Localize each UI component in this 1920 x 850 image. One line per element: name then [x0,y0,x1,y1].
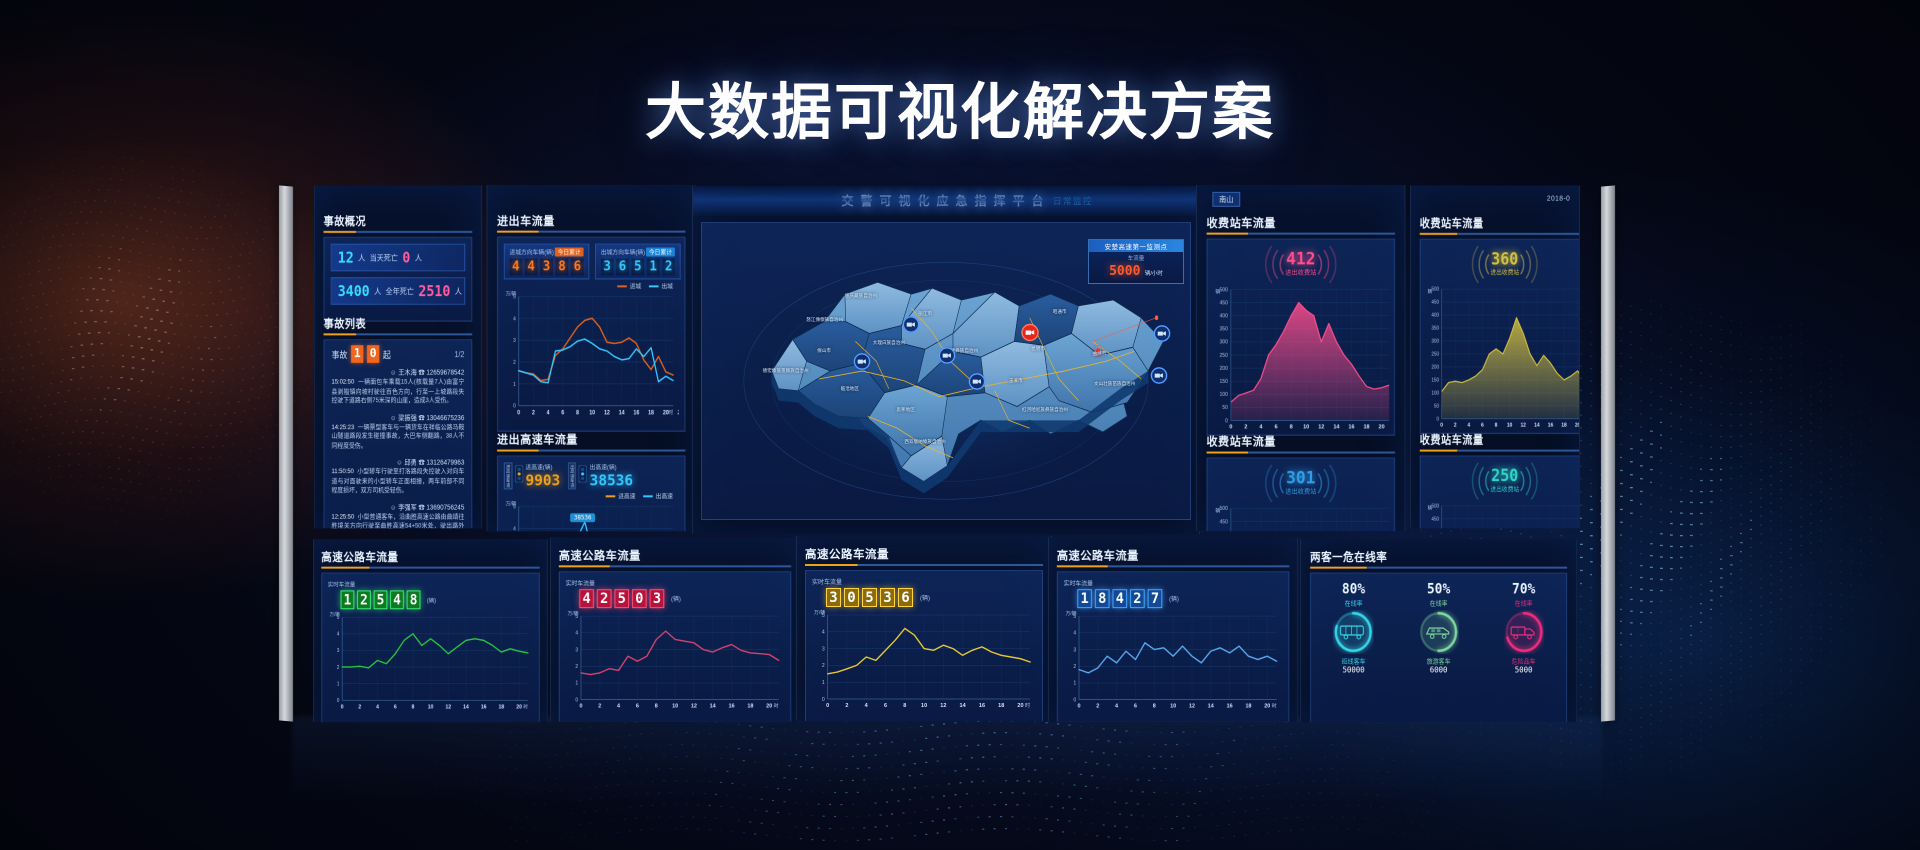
digit-cell: 3 [650,589,665,608]
panel-highway-2: 高速公路车流量实时车流量30536(辆)01234502468101214161… [805,546,1043,721]
realtime-flow-unit: (辆) [1169,594,1179,603]
online-rate-gauge [1418,610,1458,654]
accident-time: 11:50:50 [331,469,353,476]
panel-in-out-flow: 进出车流量 进城方向车辆(辆) 今日累计 44386 出城方向车辆( [497,213,685,432]
realtime-flow-digits: 18427(辆) [1077,589,1282,608]
accident-time: 14:25:23 [331,424,354,431]
table-row: 12 人 当天死亡 0 人 [331,244,466,272]
camera-marker[interactable] [1150,367,1167,389]
digit-cell: 6 [571,259,583,276]
year-death-value: 2510 [418,282,450,300]
toll-heading: 收费站车流量 [1420,432,1580,452]
phone-icon: ☎ [418,370,424,377]
accident-time: 12:25:50 [331,514,354,521]
accident-text: 12:25:50 小型普通客车，沿曲胜高速公路由曲靖往胜境关方向行驶至曲胜高速5… [331,513,464,529]
highway-panel-heading: 高速公路车流量 [321,549,539,569]
map-tooltip-unit: 辆/小时 [1145,271,1163,277]
online-rate-percent: 80% [1311,581,1395,597]
screen-highway-0: 高速公路车流量实时车流量12548(辆)01234502468101214161… [313,539,548,722]
digit-cell: 3 [601,259,613,276]
phone-icon: ☎ [418,460,424,467]
page-title: 大数据可视化解决方案 [0,82,1920,143]
online-rate-item-1[interactable]: 50%在线率旅游客车6000 [1396,581,1480,674]
panel-toll-2: 收费站车流量 301进出收费站 050100150200250300350400… [1207,434,1395,532]
digit-cell: 6 [898,588,913,607]
dashboard-date: 2018-0 [1547,193,1570,202]
list-item[interactable]: ☺ 王木海 ☎ 1265967854215:02:50 一辆面包车乘载15人(核… [324,365,471,410]
toll-heading: 收费站车流量 [1207,215,1395,235]
highway-panel-heading: 高速公路车流量 [1057,547,1289,567]
realtime-flow-digits: 30536(辆) [826,588,1036,607]
accident-text: 15:02:50 一辆面包车乘载15人(核载量7人)由富宁县剥隘镇向坡村驶往百色… [331,378,464,406]
accident-text: 14:25:23 一辆票型客车与一辆货车在祥临公路马鞍山隧道路段发生碰撞事故，大… [331,423,464,451]
camera-marker[interactable] [939,347,956,369]
online-rate-gauge [1333,610,1373,654]
in-highway-value: 9903 [525,471,560,489]
panel-toll-1: 收费站车流量 360进出收费站 050100150200250300350400… [1420,215,1580,434]
panel-highway-in-out-flow: 进出高速车流量 进高速车道 进高速(辆) 9903 [497,432,685,532]
realtime-flow-label: 实时车流量 [812,577,1036,586]
online-rate-percent: 50% [1396,581,1480,597]
accident-count-unit: 起 [383,348,391,361]
video-wall: 事故概况 12 人 当天死亡 0 人 3400 人 全年死亡 2510 人 [292,186,1602,721]
dashboard-header [693,186,1199,216]
map-tooltip-title: 安楚高速第一监测点 [1089,240,1183,252]
highway-panel-heading: 高速公路车流量 [559,547,791,567]
wall-reflection [292,716,1602,806]
legend-item: 进高速 [606,491,636,500]
screen-highway-3: 高速公路车流量实时车流量18427(辆)01234502468101214161… [1048,537,1298,721]
screen-highway-2: 高速公路车流量实时车流量30536(辆)01234502468101214161… [796,536,1052,721]
map-tooltip-label: 车流量 [1089,254,1183,262]
toll-ring-0: 412进出收费站 [1208,246,1394,284]
highway-flow-heading: 进出高速车流量 [497,432,685,452]
realtime-flow-label: 实时车流量 [328,580,534,589]
highway-panel-chart: 0123450246810121416182022时万/辆 [812,609,1036,713]
person-icon: ☺ [390,505,396,512]
camera-marker[interactable] [1154,325,1171,347]
out-city-badge: 今日累计 [646,248,675,257]
accident-meta: ☺ 邱勇 ☎ 13126479963 [331,458,464,468]
out-city-flow-box: 出城方向车辆(辆) 今日累计 36512 [595,244,681,280]
panel-toll-0: 收费站车流量 412进出收费站 050100150200250300350400… [1207,215,1395,436]
alert-marker[interactable] [1021,323,1039,346]
panel-highway-3: 高速公路车流量实时车流量18427(辆)01234502468101214161… [1057,547,1289,721]
screen-toll-right: 2018-0 收费站车流量 360进出收费站 05010015020025030… [1410,186,1580,529]
accident-list-heading: 事故列表 [324,316,473,336]
toll-chart-0: 0501001502002503003504004505000246810121… [1208,283,1394,434]
digit-cell: 1 [647,259,659,276]
realtime-flow-unit: (辆) [920,593,930,602]
screen-highway-1: 高速公路车流量实时车流量42503(辆)01234502468101214161… [550,537,800,721]
camera-marker[interactable] [969,373,986,395]
camera-marker[interactable] [854,353,871,375]
realtime-flow-unit: (辆) [427,595,436,604]
list-item[interactable]: ☺ 邱勇 ☎ 1312647996311:50:50 小型轿车行驶至打洛路段失控… [324,455,471,500]
phone-icon: ☎ [418,415,424,422]
toll-chart-2: 0501001502002503003504004505000246810121… [1208,502,1394,531]
online-rate-heading: 两客一危在线率 [1310,549,1567,569]
legend-item: 出城 [649,281,673,290]
screen-flow-charts: 进出车流量 进城方向车辆(辆) 今日累计 44386 出城方向车辆( [486,185,696,531]
in-highway-unit: (辆) [543,465,553,471]
accident-list-pager[interactable]: 1/2 [454,350,464,359]
highway-panel-heading: 高速公路车流量 [805,546,1043,566]
panel-highway-1: 高速公路车流量实时车流量42503(辆)01234502468101214161… [559,547,791,721]
camera-icon [1154,325,1171,342]
realtime-flow-label: 实时车流量 [1064,578,1283,587]
unit: 人 [415,252,422,263]
alert-camera-icon [1021,323,1039,341]
panel-online-rate: 两客一危在线率80%在线率班线客车5000050%在线率旅游客车600070%在… [1310,549,1567,722]
list-item[interactable]: ☺ 李强军 ☎ 1369075624512:25:50 小型普通客车，沿曲胜高速… [324,500,471,529]
accident-time: 15:02:50 [331,379,354,386]
highway-panel-chart: 0123450246810121416182022时万/辆 [566,610,785,713]
digit-cell: 0 [844,588,859,607]
in-out-flow-heading: 进出车流量 [497,213,685,233]
legend-label: 进高速 [618,491,635,500]
online-rate-name: 班线客车 [1311,656,1395,666]
accident-meta: ☺ 李强军 ☎ 13690756245 [331,503,464,513]
accident-count: 事故 1 0 起 1/2 [324,340,471,365]
map-tooltip-value: 5000 [1109,264,1140,279]
toll-chart-3: 0501001502002503003504004505000246810121… [1421,500,1580,529]
panel-accident-list: 事故列表 事故 1 0 起 1/2 ☺ 王木海 ☎ 1265967854215:… [324,316,473,529]
map-container[interactable]: 迪庆藏族自治州怒江傈僚族自治州丽江市昭通市大理白族自治州楚雄彝族自治州曲靖市昆明… [701,222,1191,520]
yunnan-map[interactable]: 迪庆藏族自治州怒江傈僚族自治州丽江市昭通市大理白族自治州楚雄彝族自治州曲靖市昆明… [702,223,1190,519]
unit: 人 [455,286,462,297]
highway-panel-chart: 0123450246810121416182022时万/辆 [328,611,534,714]
digit-cell: 2 [662,259,674,276]
digit-cell: 6 [616,259,628,276]
digit-cell: 7 [1148,589,1163,608]
wall-frame-right [1601,185,1615,721]
toll-heading: 收费站车流量 [1207,434,1395,454]
toll-ring-2: 301进出收费站 [1208,464,1394,502]
screen-left: 事故概况 12 人 当天死亡 0 人 3400 人 全年死亡 2510 人 [314,186,482,529]
camera-icon [854,353,871,370]
camera-marker[interactable] [903,316,920,338]
panel-highway-0: 高速公路车流量实时车流量12548(辆)01234502468101214161… [321,549,539,722]
table-row: 3400 人 全年死亡 2510 人 [331,277,466,305]
list-item[interactable]: ☺ 梁振强 ☎ 1304667523614:25:23 一辆票型客车与一辆货车在… [324,410,471,455]
city-selector[interactable]: 南山 [1212,192,1240,207]
screen-online-rate: 两客一危在线率80%在线率班线客车5000050%在线率旅游客车600070%在… [1300,539,1577,722]
digit-cell: 8 [1095,589,1110,608]
camera-icon [969,373,986,390]
camera-icon [939,347,956,364]
digit-cell: 1 [1077,589,1092,608]
camera-icon [903,316,920,333]
screen-map: 交警可视化应急指挥平台 [692,186,1200,534]
map-tooltip: 安楚高速第一监测点 车流量 5000 辆/小时 [1088,239,1184,284]
highway-panel-chart: 0123450246810121416182022时万/辆 [1064,610,1283,713]
panel-toll-3: 收费站车流量 250进出收费站 050100150200250300350400… [1420,432,1580,529]
realtime-flow-digits: 42503(辆) [579,589,784,608]
highway-flow-legend: 进高速 出高速 [606,491,673,500]
in-out-flow-chart: 0123450246810121416182022时万/辆 [504,281,679,420]
screen-toll-left: 南山 收费站车流量 412进出收费站 050100150200250300350… [1196,185,1406,531]
digit-cell: 5 [632,259,644,276]
out-highway-value: 38536 [590,471,633,489]
digit-cell: 3 [826,588,841,607]
legend-label: 出高速 [656,491,673,500]
accident-text: 11:50:50 小型轿车行驶至打洛路段失控驶入对向车道与对面驶来的小型轿车正面… [331,468,464,496]
online-rate-sub: 在线率 [1311,597,1395,607]
realtime-flow-label: 实时车流量 [566,578,785,587]
wall-frame-left [279,185,293,721]
digit-cell: 5 [862,588,877,607]
digit-cell: 4 [1112,589,1127,608]
panel-accident-overview: 事故概况 12 人 当天死亡 0 人 3400 人 全年死亡 2510 人 [324,213,473,321]
realtime-flow-unit: (辆) [671,594,681,603]
legend-label: 进城 [630,281,642,290]
toll-chart-1: 0501001502002503003504004505000246810121… [1421,283,1580,433]
camera-icon [1150,367,1167,384]
out-highway-unit: (辆) [607,465,617,471]
person-icon: ☺ [390,415,396,422]
digit-cell: 3 [880,588,895,607]
person-icon: ☺ [396,460,402,467]
legend-item: 出高速 [643,491,673,500]
phone-icon: ☎ [418,505,424,512]
realtime-flow-digits: 12548(辆) [341,590,534,609]
in-city-flow-box: 进城方向车辆(辆) 今日累计 44386 [504,244,590,280]
legend-label: 出城 [661,281,673,290]
toll-ring-3: 250进出收费站 [1421,462,1580,499]
online-rate-gauge: ! [1503,610,1543,654]
online-rate-item-0[interactable]: 80%在线率班线客车50000 [1311,581,1395,674]
digit-cell: 2 [1130,589,1145,608]
